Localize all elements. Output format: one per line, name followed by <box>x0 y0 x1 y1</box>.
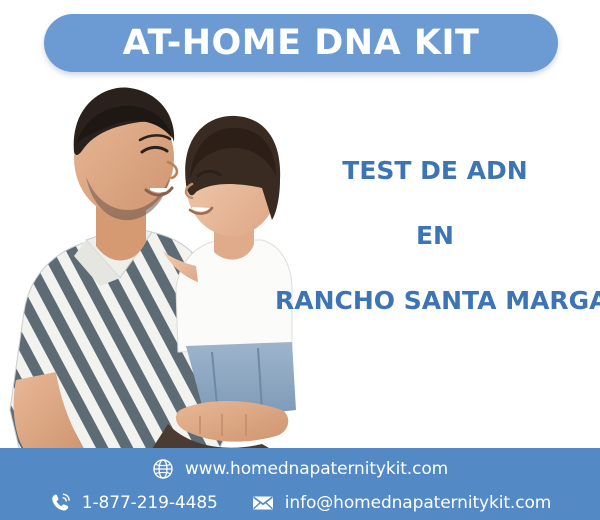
headline-line-city: RANCHO SANTA MARGARITA <box>275 288 600 313</box>
phone-contact-item[interactable]: 1-877-219-4485 <box>49 492 218 514</box>
headline-line-en: EN <box>270 223 600 248</box>
email-contact-item[interactable]: info@homednapaternitykit.com <box>252 492 551 514</box>
page-title: AT-HOME DNA KIT <box>123 26 480 61</box>
banner-canvas: AT-HOME DNA KIT <box>0 0 600 520</box>
email-label: info@homednapaternitykit.com <box>285 493 551 513</box>
phone-icon <box>49 492 71 514</box>
contact-footer: www.homednapaternitykit.com 1-877-219-44… <box>0 448 600 520</box>
headline-line-test-de-adn: TEST DE ADN <box>270 158 600 183</box>
headline-block: TEST DE ADN EN RANCHO SANTA MARGARITA <box>270 158 600 313</box>
globe-icon <box>152 458 174 480</box>
footer-row-phone-email: 1-877-219-4485 info@homednapaternitykit.… <box>0 486 600 520</box>
father-holding-toddler-photo <box>0 80 300 452</box>
title-banner-pill: AT-HOME DNA KIT <box>44 14 558 72</box>
website-contact-item[interactable]: www.homednapaternitykit.com <box>152 458 448 480</box>
phone-label: 1-877-219-4485 <box>82 493 218 513</box>
footer-row-website: www.homednapaternitykit.com <box>0 448 600 486</box>
website-label: www.homednapaternitykit.com <box>185 459 448 479</box>
envelope-icon <box>252 492 274 514</box>
